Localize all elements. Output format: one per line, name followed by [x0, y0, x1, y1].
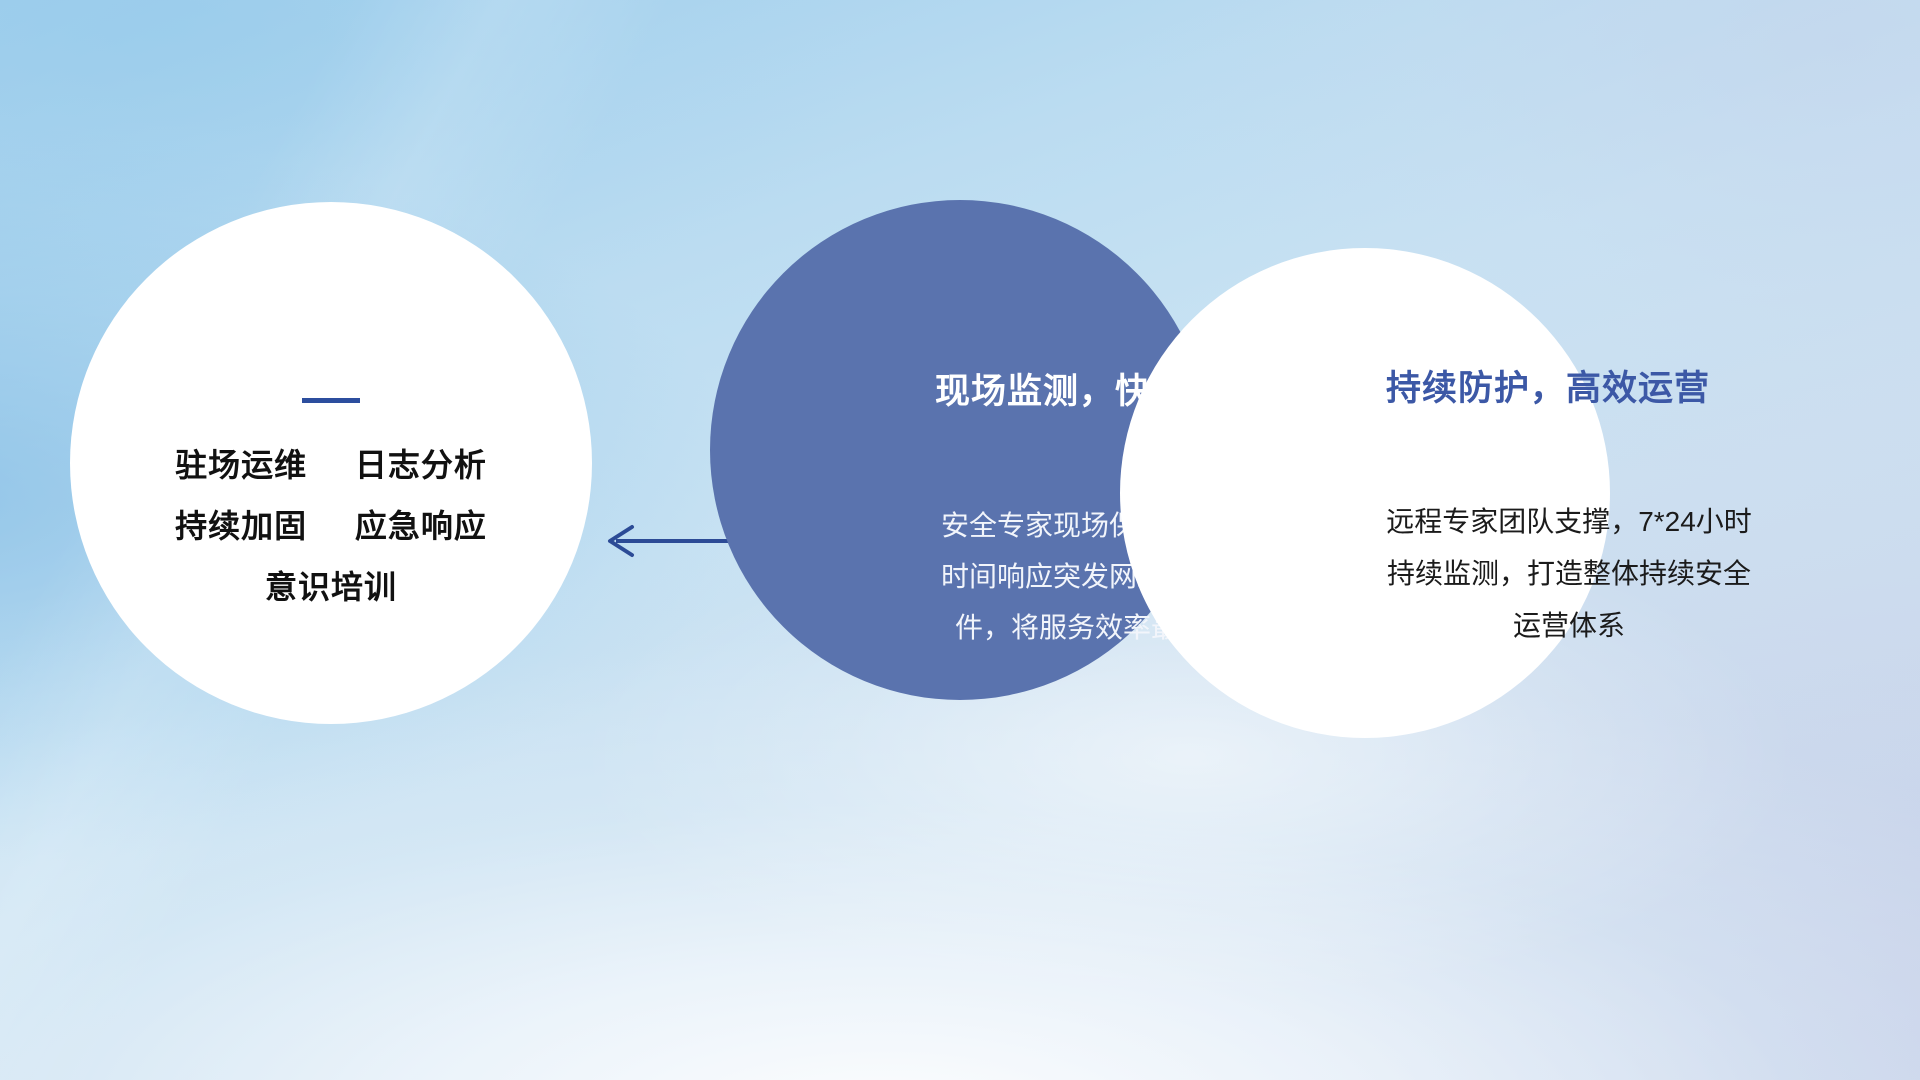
capabilities-circle: 驻场运维 日志分析 持续加固 应急响应 意识培训	[70, 202, 592, 724]
operations-body-text: 远程专家团队支撑，7*24小时持续监测，打造整体持续安全运营体系	[1386, 496, 1752, 652]
capability-row: 意识培训	[265, 571, 397, 603]
operations-circle: 持续防护，高效运营 远程专家团队支撑，7*24小时持续监测，打造整体持续安全运营…	[1120, 248, 1610, 738]
capability-tag: 意识培训	[265, 569, 397, 605]
capability-row: 持续加固 应急响应	[175, 510, 487, 542]
capability-tag: 持续加固	[175, 508, 307, 544]
capability-tag: 应急响应	[355, 508, 487, 544]
slide-canvas: 现场监测，快速响应 安全专家现场保障，最短时间响应突发网络安全事件，将服务效率最…	[0, 0, 1920, 1080]
capability-tag: 驻场运维	[175, 447, 307, 483]
operations-title: 持续防护，高效运营	[1386, 360, 1710, 411]
capability-row: 驻场运维 日志分析	[175, 449, 487, 481]
capability-tag: 日志分析	[355, 447, 487, 483]
accent-divider-rule	[302, 398, 360, 403]
